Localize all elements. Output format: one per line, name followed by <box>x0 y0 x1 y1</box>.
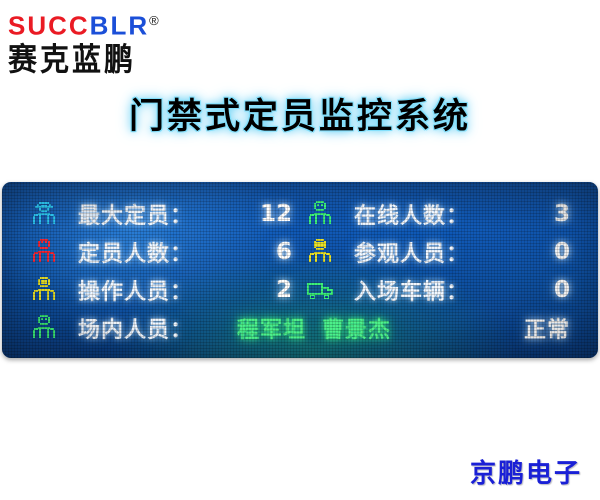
led-onsite-name-list: 程军坦曹景杰 <box>237 312 391 344</box>
person-green-icon <box>28 312 60 344</box>
led-value-online-count: 3 <box>554 201 576 227</box>
led-label-online-count: 在线人数： <box>354 198 469 230</box>
led-label-onsite-personnel: 场内人员： <box>78 312 193 344</box>
led-label-vehicles: 入场车辆： <box>354 274 469 306</box>
led-value-max-capacity: 12 <box>260 201 298 227</box>
truck-icon <box>304 274 336 306</box>
status-badge: 正常 <box>524 312 576 344</box>
brand-logo: SUCCBLR® 赛克蓝鹏 <box>8 6 208 72</box>
led-row-online-count: 在线人数： 3 <box>304 196 576 232</box>
onsite-name-1: 程军坦 <box>237 318 306 343</box>
led-label-operators: 操作人员： <box>78 274 193 306</box>
led-label-max-capacity: 最大定员： <box>78 198 193 230</box>
person-yellow-icon <box>28 274 60 306</box>
registered-trademark-icon: ® <box>149 13 159 28</box>
page-title: 门禁式定员监控系统 <box>0 88 600 139</box>
footer-company-name: 京鹏电子 <box>470 453 582 490</box>
led-label-visitors: 参观人员： <box>354 236 469 268</box>
led-value-operators: 2 <box>276 277 298 303</box>
brand-latin-wordmark: SUCCBLR® <box>8 6 208 41</box>
led-value-visitors: 0 <box>554 239 576 265</box>
person-online-icon <box>304 198 336 230</box>
onsite-name-2: 曹景杰 <box>322 318 391 343</box>
led-content-grid: 最大定员： 12 <box>2 182 598 358</box>
brand-chinese-name: 赛克蓝鹏 <box>8 41 208 78</box>
led-row-onsite-personnel: 场内人员： 程军坦曹景杰 正常 <box>28 310 576 346</box>
led-label-assigned-count: 定员人数： <box>78 236 193 268</box>
person-cap-icon <box>28 198 60 230</box>
led-row-vehicles: 入场车辆： 0 <box>304 272 576 308</box>
led-value-assigned-count: 6 <box>276 239 298 265</box>
led-row-max-capacity: 最大定员： 12 <box>28 196 298 232</box>
led-row-operators: 操作人员： 2 <box>28 272 298 308</box>
person-visitor-icon <box>304 236 336 268</box>
brand-latin-red: SUCC <box>8 11 90 41</box>
led-row-visitors: 参观人员： 0 <box>304 234 576 270</box>
brand-latin-blue: BLR <box>90 11 149 41</box>
led-row-assigned-count: 定员人数： 6 <box>28 234 298 270</box>
led-display-panel: 最大定员： 12 <box>2 182 598 358</box>
person-red-icon <box>28 236 60 268</box>
led-value-vehicles: 0 <box>554 277 576 303</box>
